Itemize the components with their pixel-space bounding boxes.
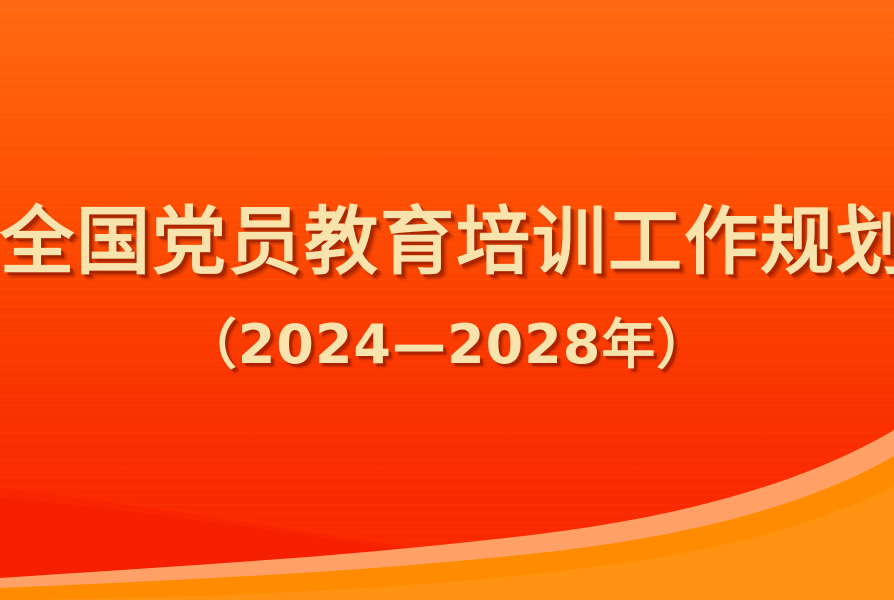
poster-banner: 全国党员教育培训工作规划 （2024—2028年） — [0, 0, 894, 600]
decorative-wave-graphic — [0, 0, 894, 600]
